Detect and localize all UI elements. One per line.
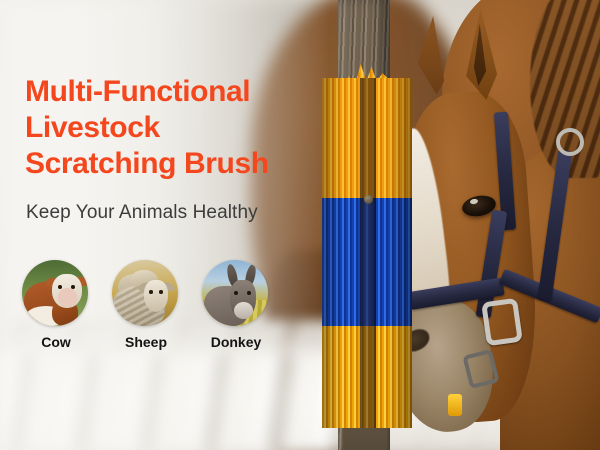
- cow-eye-left: [58, 285, 62, 289]
- sheep-eye-left: [149, 290, 153, 294]
- headline: Multi-Functional Livestock Scratching Br…: [25, 74, 345, 182]
- headline-line-2: Livestock: [25, 110, 345, 146]
- animal-item-donkey: Donkey: [202, 260, 270, 350]
- donkey-eye-left: [234, 291, 238, 295]
- animal-item-sheep: Sheep: [112, 260, 180, 350]
- animal-compatibility-list: Cow Sheep: [22, 260, 312, 350]
- animal-label-sheep: Sheep: [112, 334, 180, 350]
- subheadline: Keep Your Animals Healthy: [26, 202, 258, 224]
- product-banner: Multi-Functional Livestock Scratching Br…: [0, 0, 600, 450]
- sheep-eye-right: [159, 290, 163, 294]
- headline-line-1: Multi-Functional: [25, 74, 345, 110]
- headline-line-3: Scratching Brush: [25, 146, 345, 182]
- cow-eye-right: [71, 285, 75, 289]
- banner-content: Multi-Functional Livestock Scratching Br…: [0, 0, 600, 450]
- animal-item-cow: Cow: [22, 260, 90, 350]
- sheep-photo-icon: [112, 260, 178, 326]
- animal-label-cow: Cow: [22, 334, 90, 350]
- donkey-eye-right: [247, 291, 251, 295]
- cow-muzzle: [58, 288, 77, 307]
- donkey-photo-icon: [202, 260, 268, 326]
- animal-label-donkey: Donkey: [202, 334, 270, 350]
- donkey-muzzle: [234, 302, 253, 319]
- sheep-head: [144, 280, 168, 312]
- cow-photo-icon: [22, 260, 88, 326]
